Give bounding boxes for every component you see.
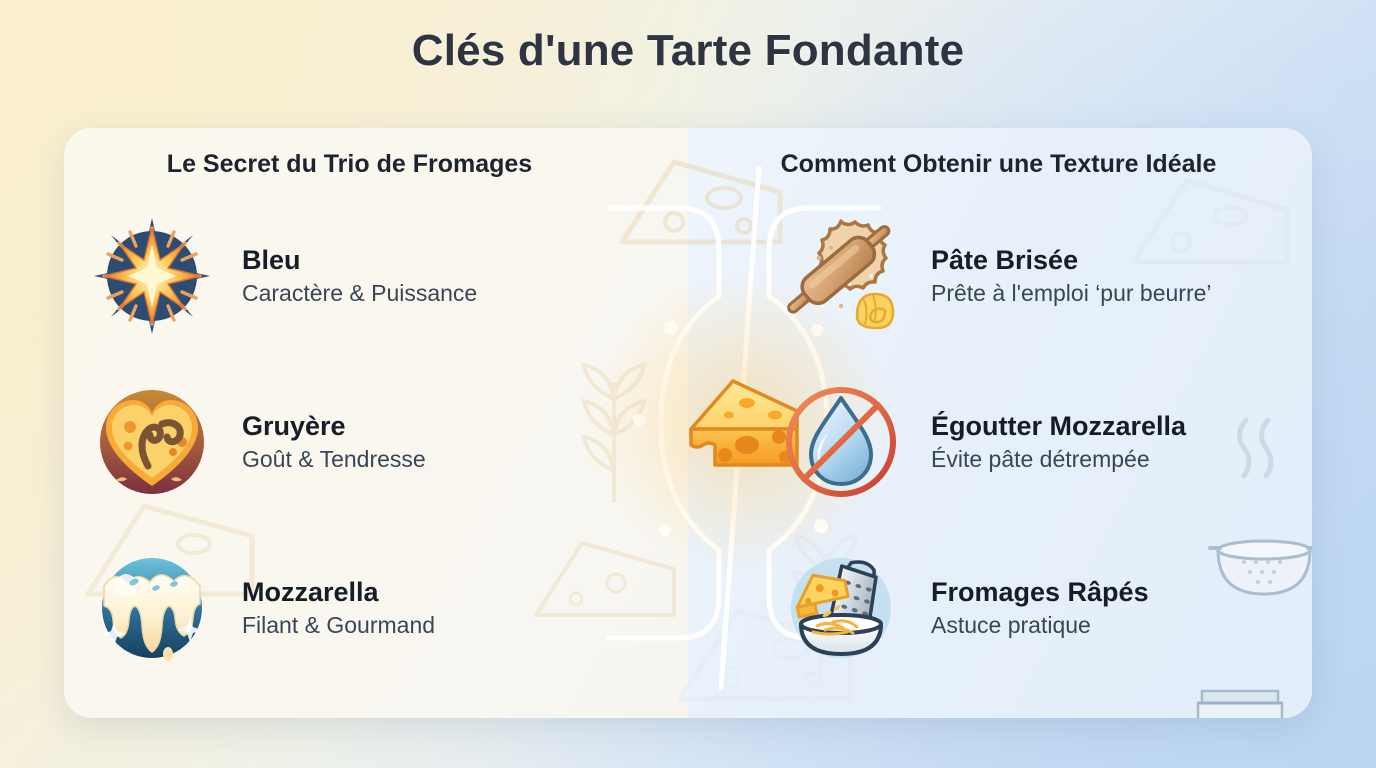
- list-item-mozzarella[interactable]: Mozzarella Filant & Gourmand: [64, 525, 649, 691]
- list-item-text: Gruyère Goût & Tendresse: [242, 411, 426, 473]
- rolling-pin-dough-butter-icon: [779, 214, 903, 338]
- list-item-subtitle: Caractère & Puissance: [242, 280, 477, 307]
- list-item-text: Bleu Caractère & Puissance: [242, 245, 477, 307]
- list-item-egoutter-mozzarella[interactable]: Égoutter Mozzarella Évite pâte détrempée: [679, 359, 1312, 525]
- heart-cheese-icon: [90, 380, 214, 504]
- list-item-title: Mozzarella: [242, 577, 435, 608]
- left-column: Le Secret du Trio de Fromages: [64, 128, 649, 718]
- list-item-text: Mozzarella Filant & Gourmand: [242, 577, 435, 639]
- list-item-subtitle: Goût & Tendresse: [242, 446, 426, 473]
- left-column-heading: Le Secret du Trio de Fromages: [64, 150, 649, 179]
- list-item-pate-brisee[interactable]: Pâte Brisée Prête à l'emploi ‘pur beurre…: [679, 193, 1312, 359]
- list-item-title: Égoutter Mozzarella: [931, 411, 1186, 442]
- list-item-title: Pâte Brisée: [931, 245, 1212, 276]
- list-item-text: Fromages Râpés Astuce pratique: [931, 577, 1149, 639]
- left-item-list: Bleu Caractère & Puissance: [64, 193, 649, 691]
- right-item-list: Pâte Brisée Prête à l'emploi ‘pur beurre…: [679, 193, 1312, 691]
- cheese-grater-bowl-icon: [779, 546, 903, 670]
- list-item-subtitle: Évite pâte détrempée: [931, 446, 1186, 473]
- page-title: Clés d'une Tarte Fondante: [0, 26, 1376, 76]
- no-water-droplet-icon: [779, 380, 903, 504]
- list-item-title: Bleu: [242, 245, 477, 276]
- list-item-text: Égoutter Mozzarella Évite pâte détrempée: [931, 411, 1186, 473]
- blue-cheese-starburst-icon: [90, 214, 214, 338]
- list-item-gruyere[interactable]: Gruyère Goût & Tendresse: [64, 359, 649, 525]
- list-item-bleu[interactable]: Bleu Caractère & Puissance: [64, 193, 649, 359]
- infographic-canvas: Clés d'une Tarte Fondante: [0, 0, 1376, 768]
- list-item-title: Fromages Râpés: [931, 577, 1149, 608]
- right-column: Comment Obtenir une Texture Idéale: [679, 128, 1312, 718]
- content-card: Le Secret du Trio de Fromages: [64, 128, 1312, 718]
- list-item-title: Gruyère: [242, 411, 426, 442]
- list-item-subtitle: Astuce pratique: [931, 612, 1149, 639]
- list-item-fromages-rapes[interactable]: Fromages Râpés Astuce pratique: [679, 525, 1312, 691]
- list-item-subtitle: Filant & Gourmand: [242, 612, 435, 639]
- right-column-heading: Comment Obtenir une Texture Idéale: [679, 150, 1312, 179]
- melting-cheese-drip-icon: [90, 546, 214, 670]
- list-item-text: Pâte Brisée Prête à l'emploi ‘pur beurre…: [931, 245, 1212, 307]
- list-item-subtitle: Prête à l'emploi ‘pur beurre’: [931, 280, 1212, 307]
